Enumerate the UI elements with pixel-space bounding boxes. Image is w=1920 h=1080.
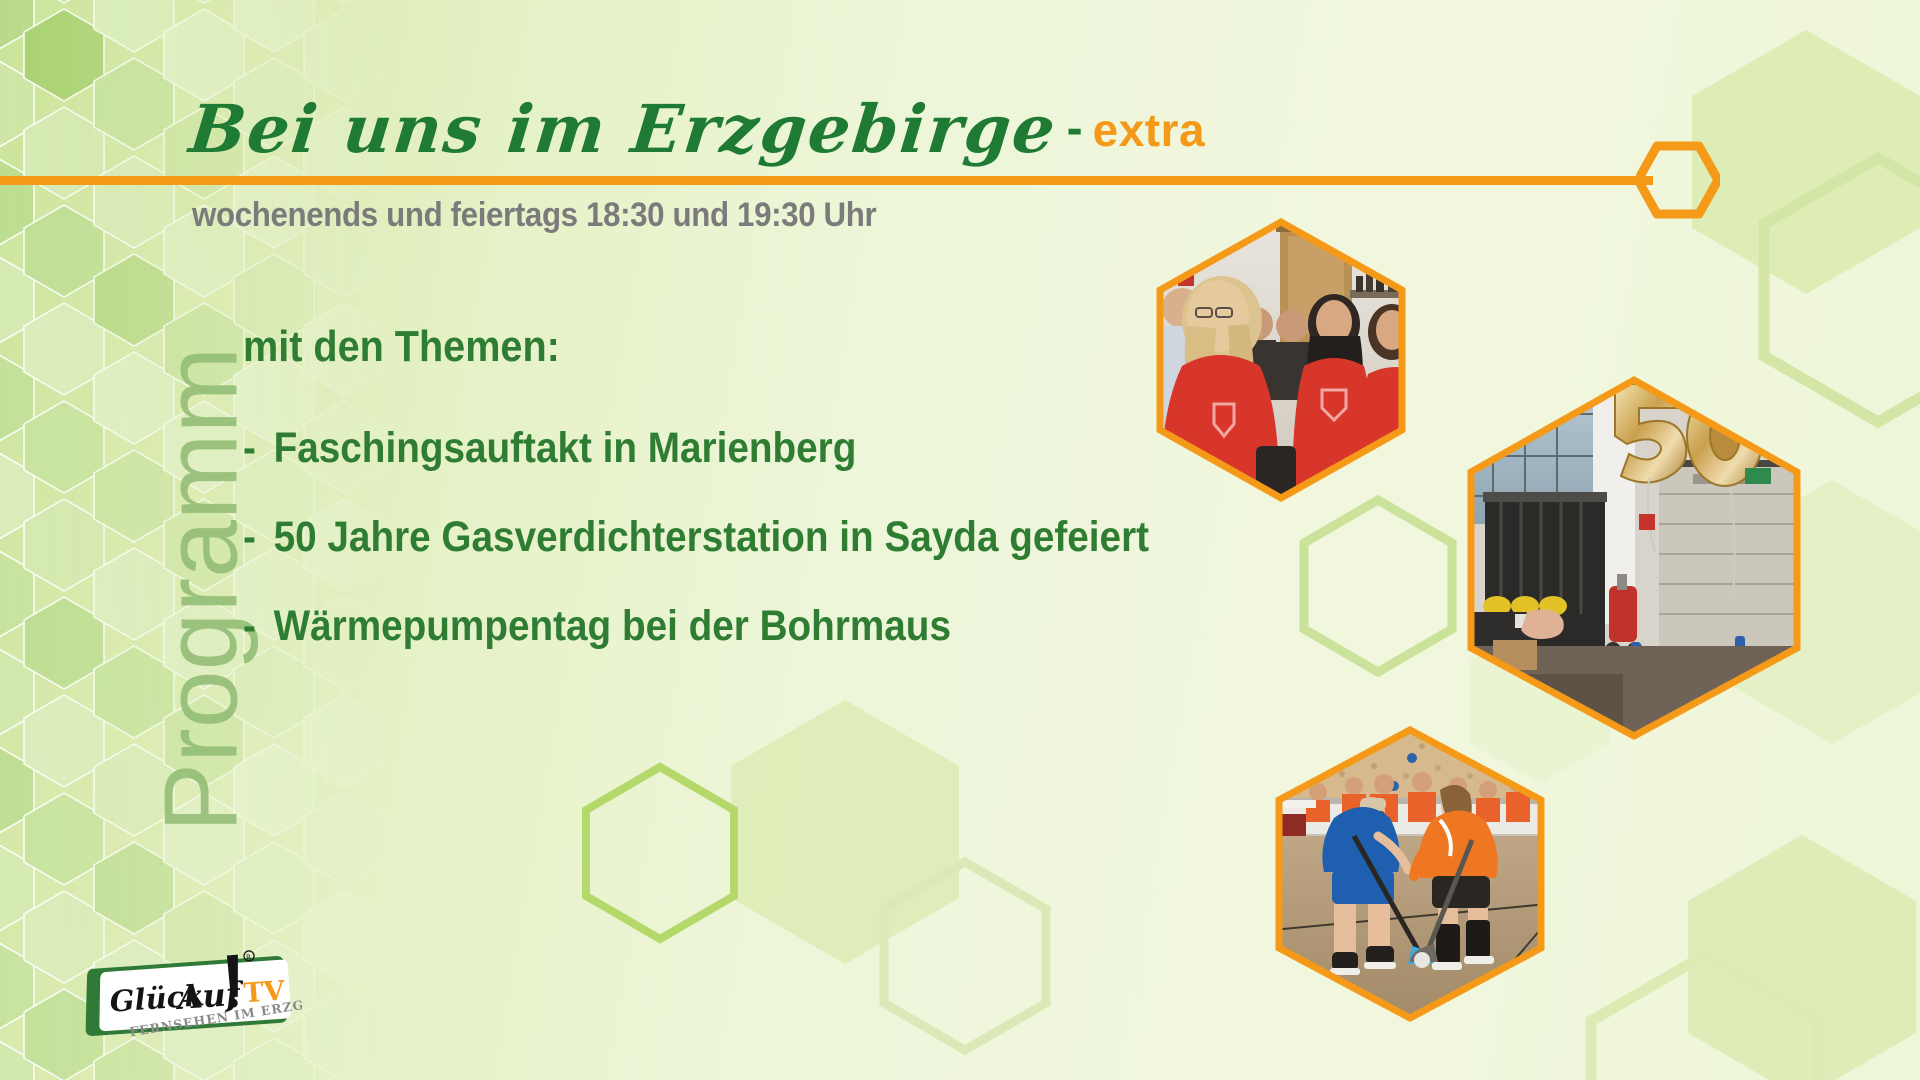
bullet-dash: - [243, 424, 274, 473]
deco-hex-outline-center [586, 767, 734, 939]
page-title: Bei uns im Erzgebirge-extra [190, 96, 1205, 162]
channel-logo[interactable]: Glück Auf R TV FERNSEHEN IM ERZGEBIRGE [82, 948, 302, 1054]
deco-hex-filled-topright [1692, 30, 1920, 294]
title-accent-text: extra [1093, 104, 1205, 156]
bullet-dash: - [243, 602, 274, 651]
broadcast-slide: Programm Bei uns im Erzgebirge-extra woc… [0, 0, 1920, 1080]
deco-hex-outline-midleft [1304, 500, 1452, 672]
topic-list: - Faschingsauftakt in Marienberg - 50 Ja… [243, 424, 1250, 691]
topics-intro-label: mit den Themen: [243, 322, 560, 372]
title-separator: - [1057, 102, 1093, 155]
deco-hex-outline-lower [884, 862, 1046, 1050]
title-main-text: Bei uns im Erzgebirge [187, 96, 1061, 162]
svg-text:R: R [246, 953, 252, 961]
photo-hexagon-floorball [1272, 724, 1548, 1024]
photo-hexagon-gasverdichterstation [1463, 374, 1805, 742]
topic-text: Wärmepumpentag bei der Bohrmaus [274, 602, 951, 651]
topic-text: Faschingsauftakt in Marienberg [274, 424, 857, 473]
bullet-dash: - [243, 513, 274, 562]
topic-text: 50 Jahre Gasverdichterstation in Sayda g… [274, 513, 1149, 562]
list-item: - 50 Jahre Gasverdichterstation in Sayda… [243, 513, 1149, 562]
header-divider-line [0, 176, 1653, 185]
deco-hex-filled-bottomright [1688, 835, 1916, 1080]
list-item: - Wärmepumpentag bei der Bohrmaus [243, 602, 1149, 651]
list-item: - Faschingsauftakt in Marienberg [243, 424, 1149, 473]
deco-hex-outline-bottomright [1591, 955, 1819, 1080]
divider-hexagon-icon [1636, 141, 1720, 219]
photo-hexagon-fasching [1152, 216, 1410, 504]
broadcast-schedule-subtitle: wochenends und feiertags 18:30 und 19:30… [192, 196, 876, 235]
deco-hex-filled-center [731, 700, 959, 964]
